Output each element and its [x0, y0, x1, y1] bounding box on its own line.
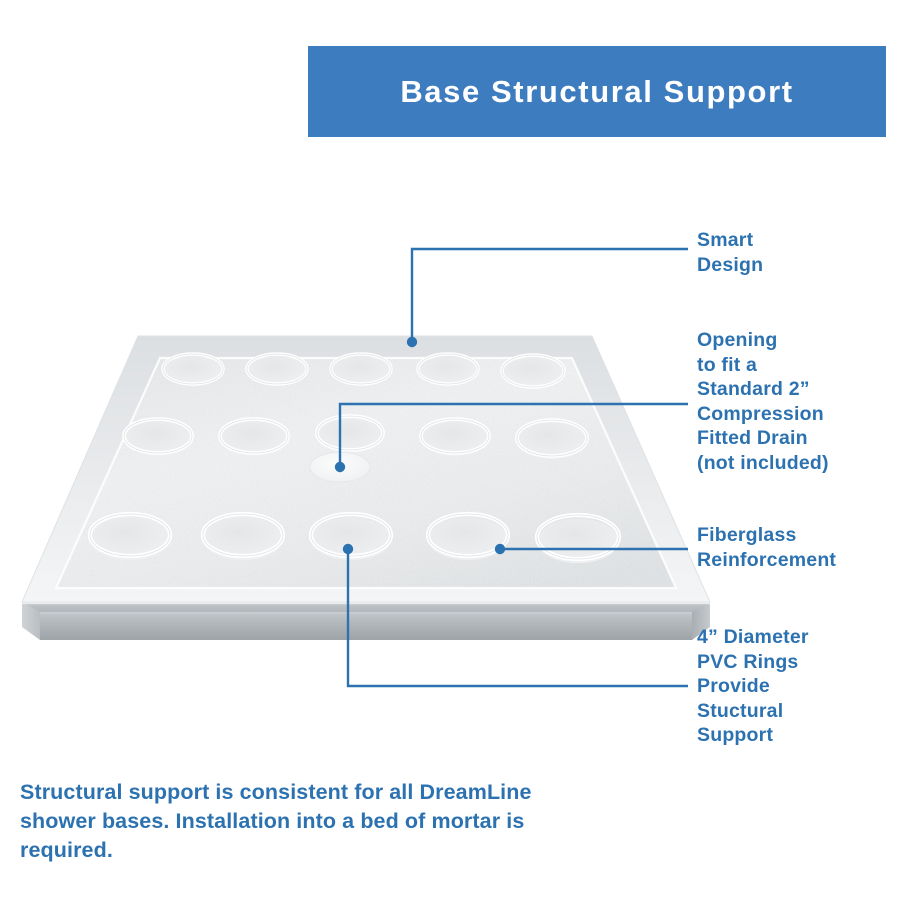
pvc-ring — [421, 419, 489, 456]
pvc-ring — [537, 515, 619, 563]
callout-pvc-rings: 4” Diameter PVC Rings Provide Stuctural … — [697, 625, 809, 748]
pvc-ring — [124, 419, 192, 456]
pvc-ring — [428, 514, 508, 560]
pvc-ring — [247, 354, 307, 386]
pvc-ring — [317, 416, 383, 453]
callout-fiberglass: Fiberglass Reinforcement — [697, 523, 836, 572]
pvc-ring — [220, 419, 288, 456]
pvc-ring — [331, 354, 391, 386]
pvc-ring — [502, 355, 564, 389]
callout-smart-design: Smart Design — [697, 228, 763, 277]
callout-drain-opening: Opening to fit a Standard 2” Compression… — [697, 328, 829, 475]
pvc-ring — [311, 514, 391, 560]
product-illustration — [0, 300, 730, 660]
footer-note: Structural support is consistent for all… — [20, 778, 590, 864]
shower-base-graphic — [0, 300, 730, 660]
pvc-ring — [203, 514, 283, 560]
drain-opening — [310, 452, 370, 482]
pvc-ring — [163, 354, 223, 386]
pvc-ring — [90, 514, 170, 560]
pvc-ring — [517, 420, 587, 459]
pvc-ring — [418, 354, 478, 386]
title-banner: Base Structural Support — [308, 46, 886, 137]
page-title: Base Structural Support — [400, 74, 793, 110]
